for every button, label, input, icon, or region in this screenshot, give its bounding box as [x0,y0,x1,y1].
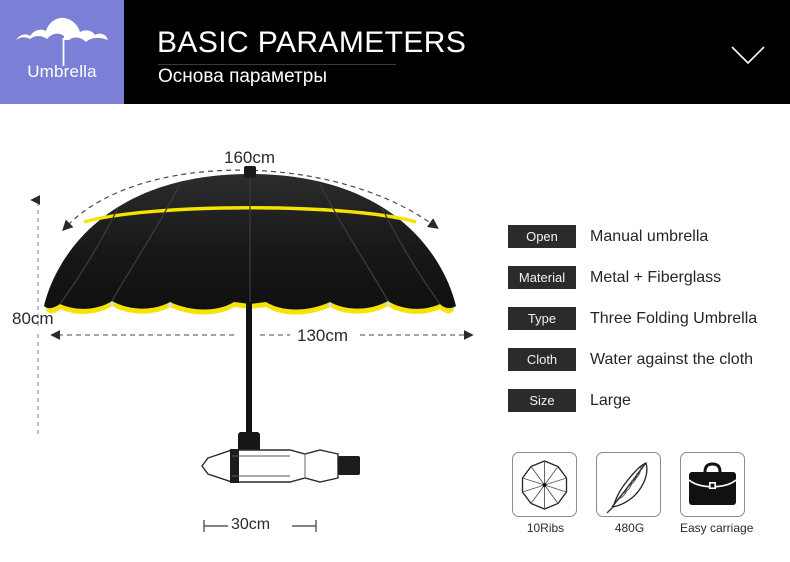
page-subtitle: Основа параметры [158,64,327,90]
umbrella-ribs-icon [513,453,576,516]
feature-caption-carriage: Easy carriage [680,521,747,535]
feather-icon [597,453,660,516]
dimension-label-arc: 160cm [224,148,275,168]
feature-ribs: 10Ribs [512,452,579,535]
chevron-down-icon[interactable] [730,44,766,66]
spec-row-open: Open Manual umbrella [508,216,786,257]
spec-tag-open: Open [508,225,576,248]
dimension-label-folded: 30cm [231,516,270,534]
spec-tag-cloth: Cloth [508,348,576,371]
spec-tag-size: Size [508,389,576,412]
feature-carriage: Easy carriage [680,452,747,535]
spec-value-cloth: Water against the cloth [590,351,753,369]
spec-value-material: Metal + Fiberglass [590,269,721,287]
feature-weight: 480G [596,452,663,535]
umbrella-icon [14,16,110,68]
umbrella-diagram [0,104,500,562]
spec-tag-type: Type [508,307,576,330]
feature-box-ribs [512,452,577,517]
brand-logo: Umbrella [0,0,124,104]
specifications-list: Open Manual umbrella Material Metal + Fi… [508,216,786,421]
feature-caption-weight: 480G [596,521,663,535]
folded-umbrella [202,449,360,483]
dimension-label-height: 80cm [12,309,54,329]
header-bar: Umbrella BASIC PARAMETERS Основа парамет… [0,0,790,104]
briefcase-icon [681,453,744,516]
spec-row-cloth: Cloth Water against the cloth [508,339,786,380]
product-infographic: Umbrella BASIC PARAMETERS Основа парамет… [0,0,790,562]
umbrella-canopy [44,166,456,315]
umbrella-shaft [238,302,260,462]
dimension-label-width: 130cm [297,326,348,346]
feature-caption-ribs: 10Ribs [512,521,579,535]
spec-row-material: Material Metal + Fiberglass [508,257,786,298]
page-title: BASIC PARAMETERS [157,26,466,60]
spec-value-open: Manual umbrella [590,228,708,246]
spec-value-size: Large [590,392,631,410]
spec-tag-material: Material [508,266,576,289]
feature-box-carriage [680,452,745,517]
spec-row-type: Type Three Folding Umbrella [508,298,786,339]
spec-row-size: Size Large [508,380,786,421]
product-illustration: 160cm 80cm 130cm 30cm [0,104,500,562]
feature-icon-row: 10Ribs 480G [512,452,747,535]
spec-value-type: Three Folding Umbrella [590,310,757,328]
brand-logo-label: Umbrella [0,62,124,82]
feature-box-weight [596,452,661,517]
